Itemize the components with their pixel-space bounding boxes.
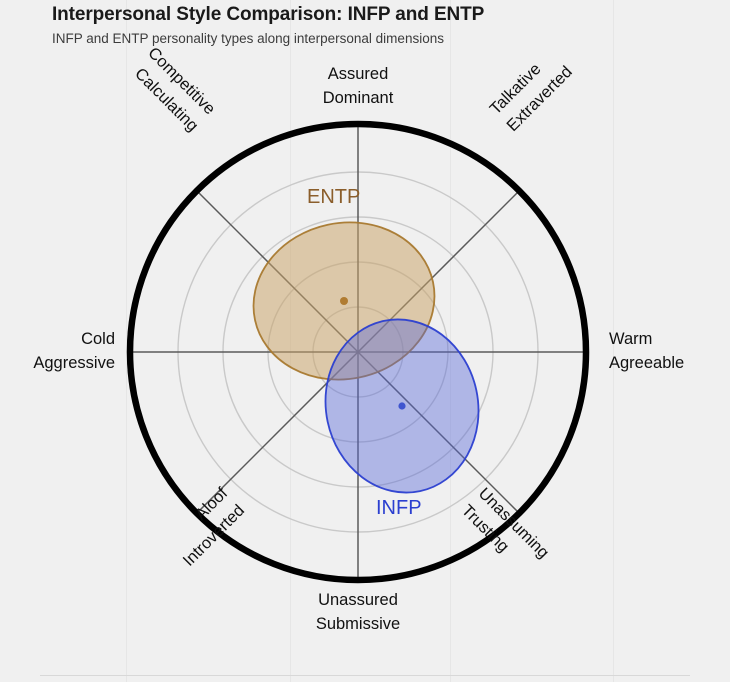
footer-divider [40,675,690,676]
infp-series-label: INFP [376,497,422,520]
axis-label-cold-aggressive: Cold Aggressive [0,328,115,376]
axis-label-unassured-submissive: Unassured Submissive [268,589,448,637]
axis-label-warm-agreeable: Warm Agreeable [609,328,729,376]
entp-center-marker [340,297,348,305]
chart-canvas: Interpersonal Style Comparison: INFP and… [0,0,730,682]
entp-series-label: ENTP [307,186,360,209]
infp-center-marker [398,402,405,409]
axis-label-assured-dominant: Assured Dominant [268,63,448,111]
series-blobs [239,206,495,507]
